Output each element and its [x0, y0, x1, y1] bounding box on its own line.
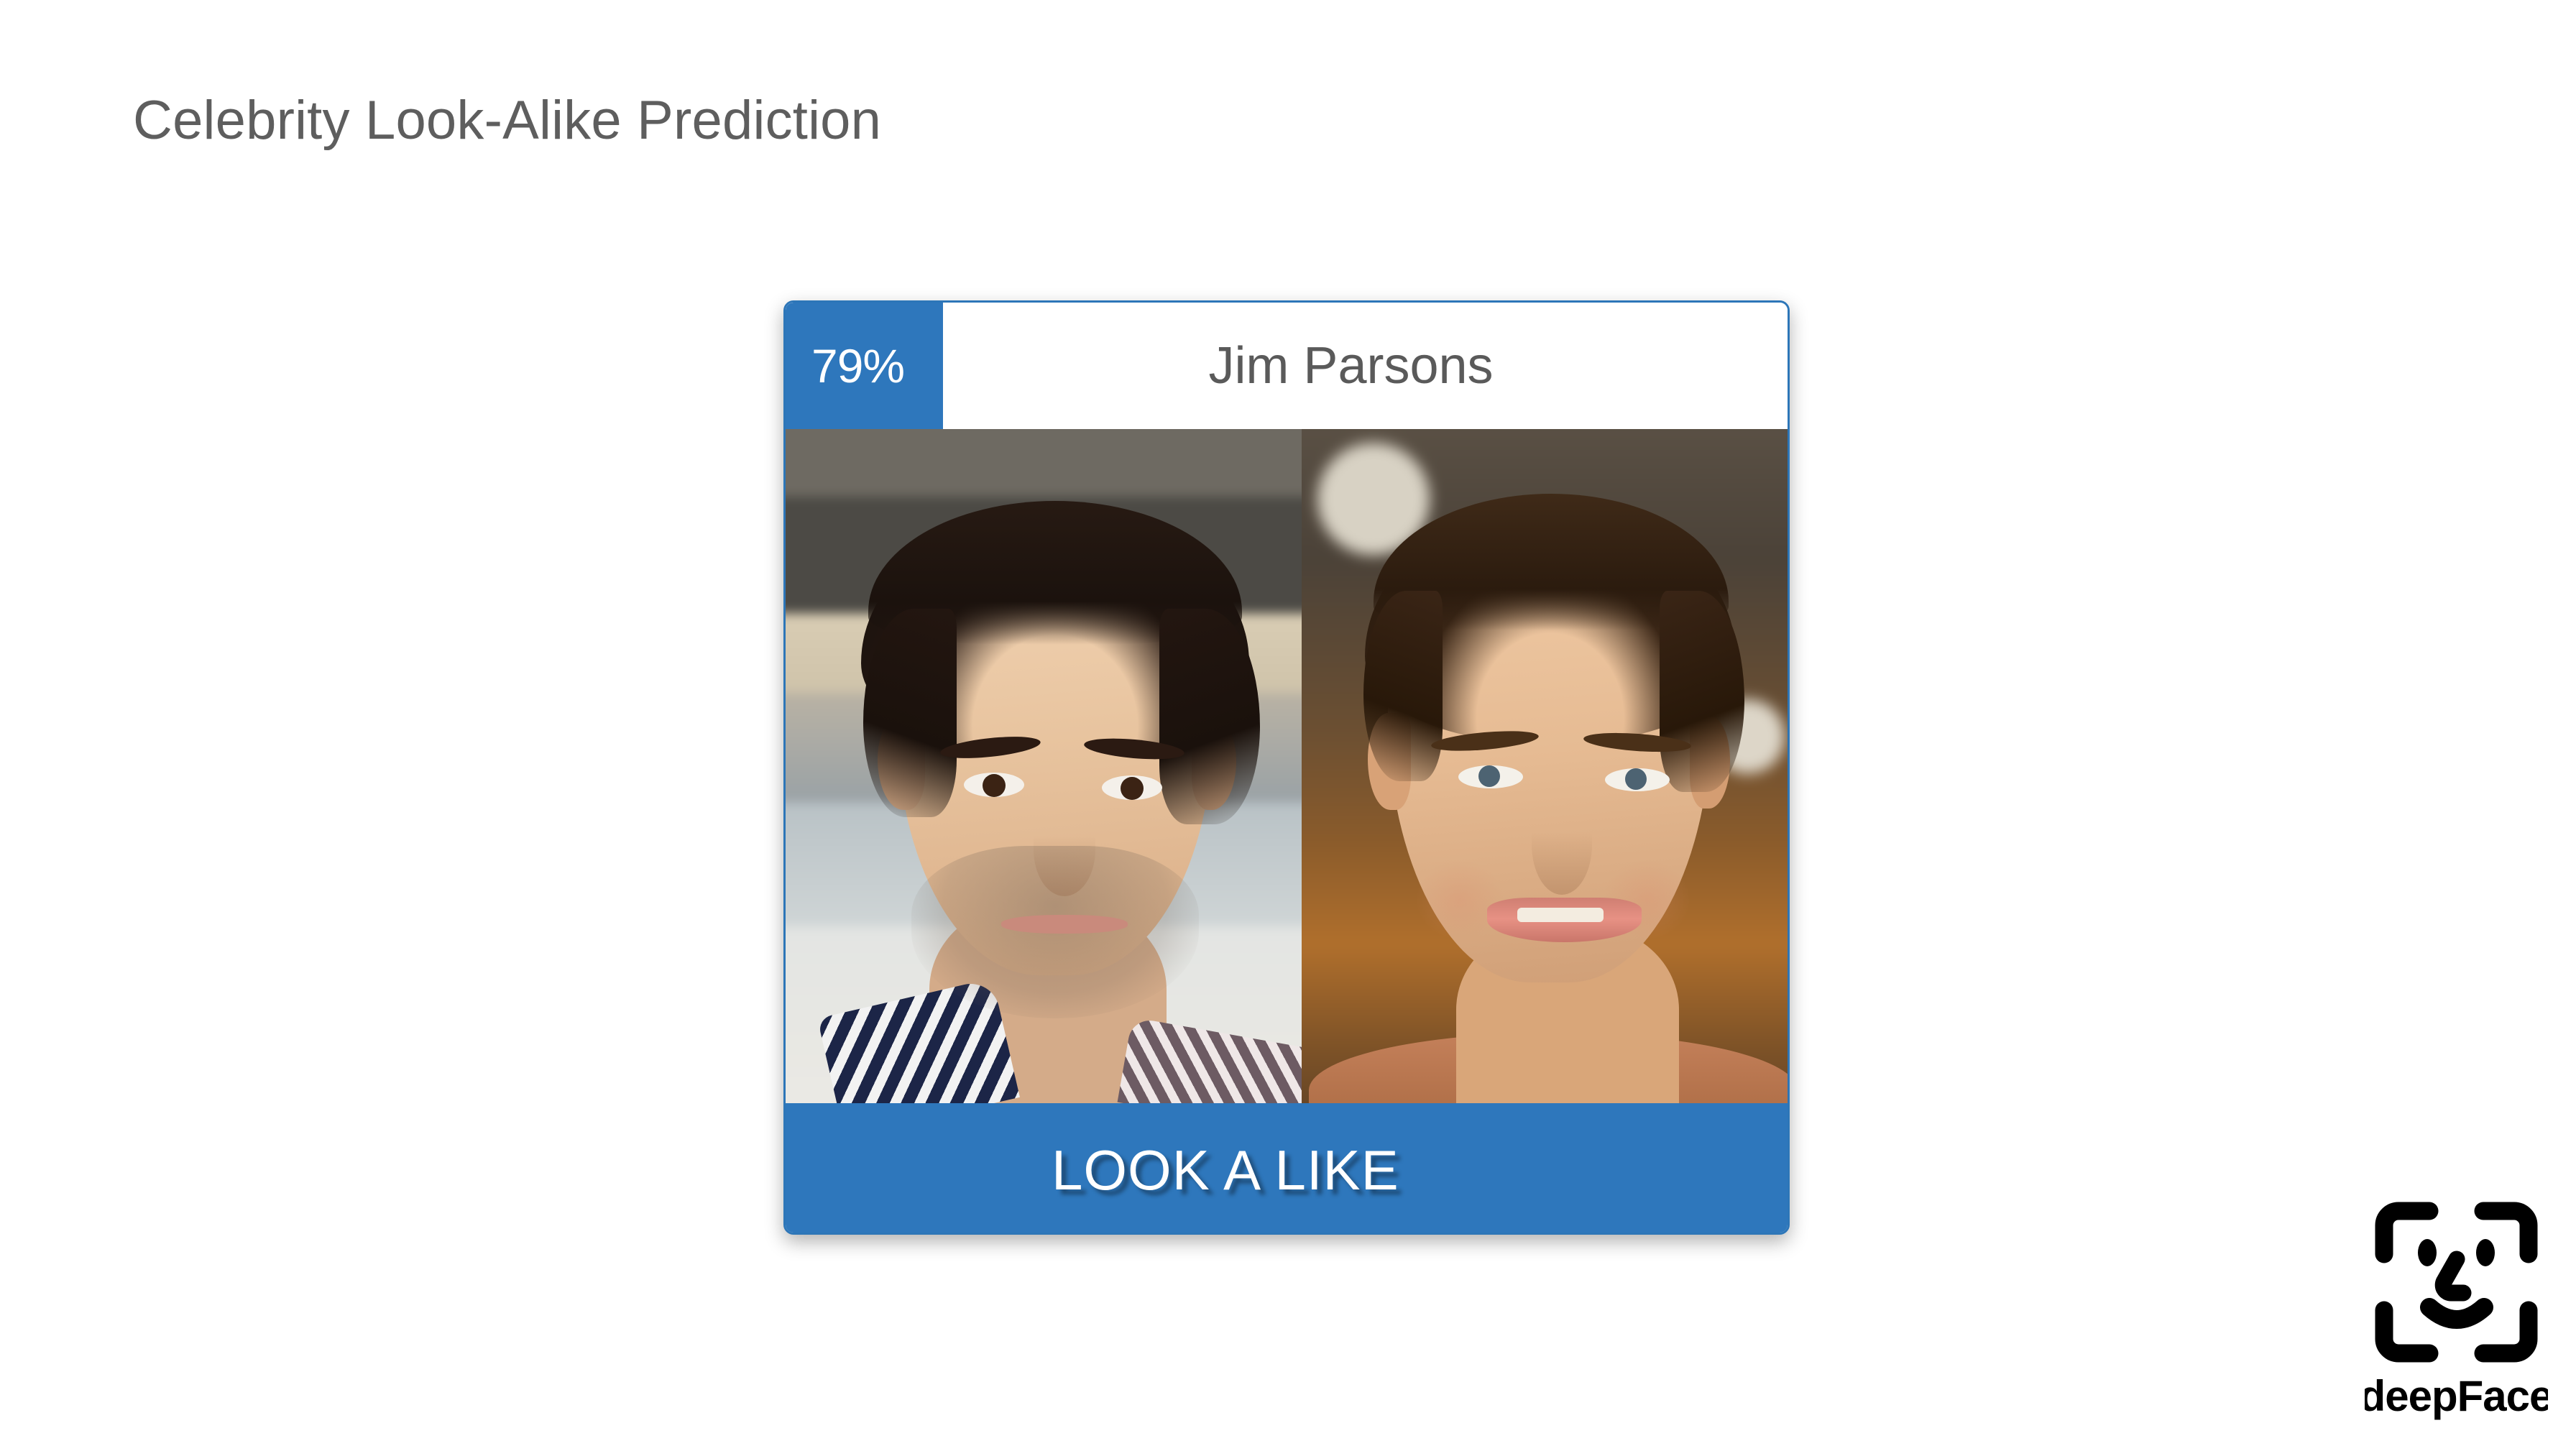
- card-header: 79% Jim Parsons: [786, 303, 1788, 429]
- verdict-label: LOOK A LIKE: [1052, 1138, 1399, 1203]
- deepface-wordmark: deepFace: [2365, 1372, 2548, 1420]
- look-alike-result-card[interactable]: 79% Jim Parsons: [783, 300, 1790, 1235]
- celebrity-name: Jim Parsons: [1208, 336, 1493, 395]
- face-scan-smiley-icon: deepFace: [2365, 1192, 2548, 1422]
- match-score-badge: 79%: [786, 303, 943, 429]
- page-title: Celebrity Look-Alike Prediction: [133, 89, 881, 152]
- source-photo[interactable]: [786, 429, 1302, 1103]
- match-score-value: 79%: [811, 339, 904, 393]
- celebrity-pupil-left: [1478, 765, 1500, 787]
- app-root: Celebrity Look-Alike Prediction 79% Jim …: [0, 0, 2576, 1446]
- deepface-logo: deepFace: [2365, 1192, 2548, 1422]
- celebrity-nose: [1532, 794, 1592, 895]
- source-nose: [1034, 803, 1095, 896]
- verdict-banner: LOOK A LIKE: [786, 1103, 1788, 1235]
- source-pupil-left: [983, 774, 1006, 797]
- celebrity-photo[interactable]: [1302, 429, 1788, 1103]
- celebrity-teeth: [1517, 908, 1604, 922]
- celebrity-name-container: Jim Parsons: [943, 303, 1788, 429]
- celebrity-cheek-left: [1417, 860, 1503, 939]
- source-lips: [1001, 915, 1128, 934]
- source-pupil-right: [1121, 777, 1144, 800]
- celebrity-pupil-right: [1625, 768, 1647, 790]
- photo-comparison-strip: [786, 429, 1788, 1103]
